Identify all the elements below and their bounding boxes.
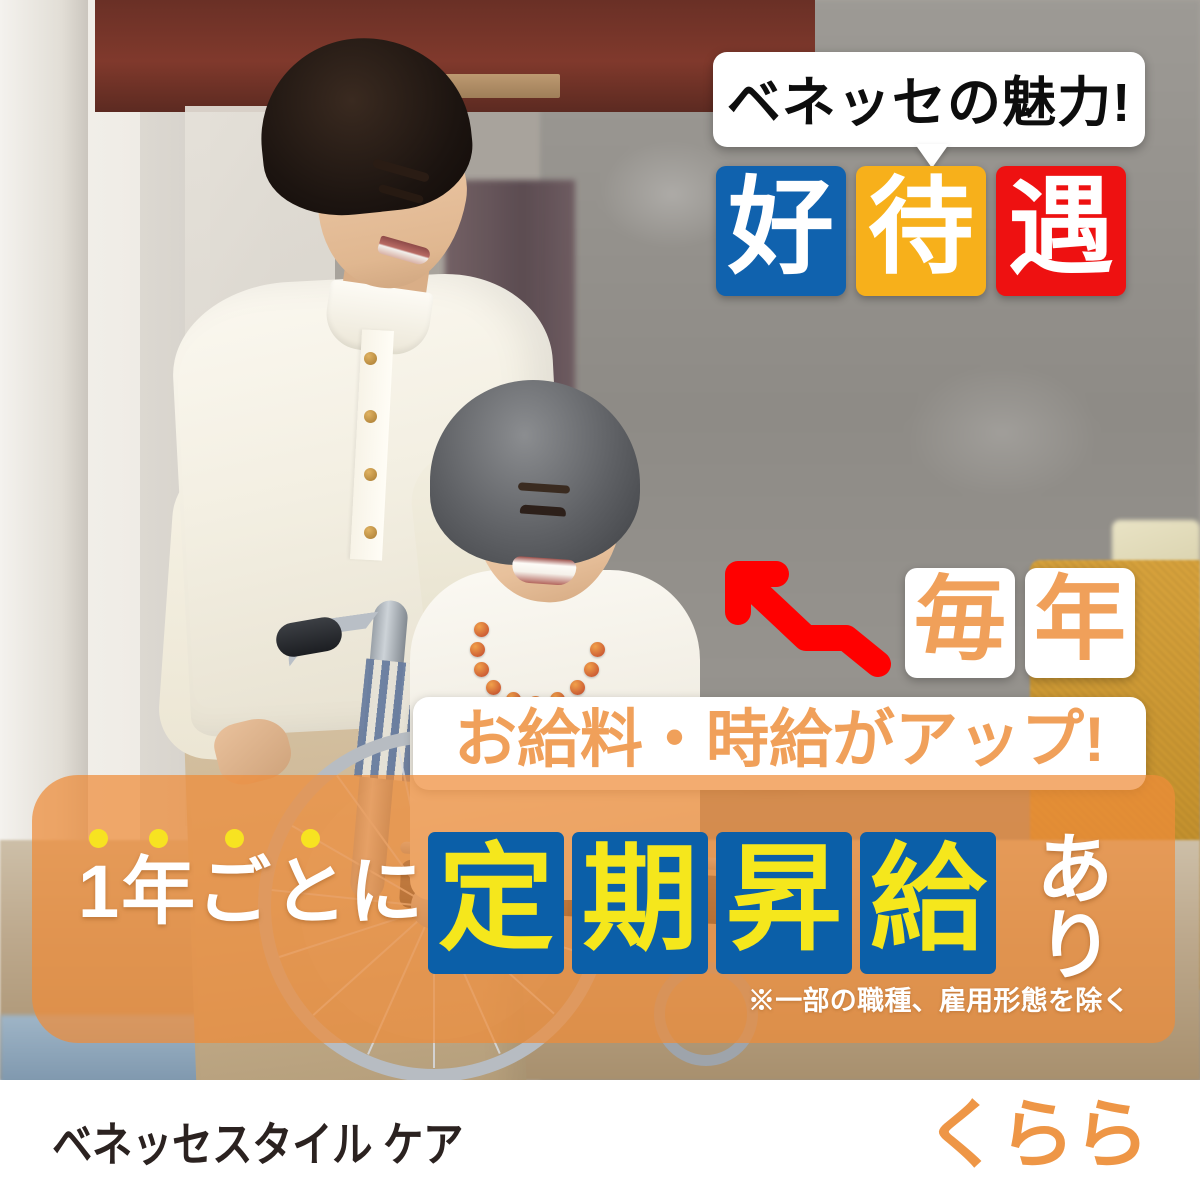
speech-bubble-tail-icon bbox=[915, 144, 949, 168]
poster-root: ベネッセの魅力! 好 待 遇 毎 年 お給料・時給がアップ! 1 bbox=[0, 0, 1200, 1200]
headline-tile-1-char: 好 bbox=[728, 175, 834, 281]
every-year-tile-2-char: 年 bbox=[1034, 574, 1126, 666]
every-year-tile-row: 毎 年 bbox=[905, 568, 1135, 678]
appeal-speech-bubble: ベネッセの魅力! bbox=[713, 52, 1145, 147]
regular-raise-tile-2-char: 期 bbox=[582, 841, 698, 957]
regular-raise-tile-4: 給 bbox=[860, 832, 996, 974]
headline-tile-2-char: 待 bbox=[868, 175, 974, 281]
regular-raise-tile-3: 昇 bbox=[716, 832, 852, 974]
raise-prefix-char-2: 年 bbox=[121, 855, 195, 929]
regular-raise-tile-3-char: 昇 bbox=[726, 841, 842, 957]
raise-prefix-char-3: ご bbox=[197, 855, 271, 929]
footer-bar: ベネッセスタイル ケア くらら bbox=[0, 1080, 1200, 1200]
headline-tile-1: 好 bbox=[716, 166, 846, 296]
raise-prefix-char-1: 1 bbox=[78, 855, 119, 929]
red-rising-step-arrow-icon bbox=[718, 552, 898, 677]
raise-disclaimer: ※一部の職種、雇用形態を除く bbox=[748, 979, 1130, 1018]
speech-bubble-text: ベネッセの魅力! bbox=[727, 58, 1132, 137]
every-year-tile-1: 毎 bbox=[905, 568, 1015, 678]
regular-raise-tile-4-char: 給 bbox=[870, 841, 986, 957]
raise-prefix-char-4: と bbox=[273, 855, 347, 929]
headline-tile-2: 待 bbox=[856, 166, 986, 296]
raise-suffix-ari: あり bbox=[1032, 828, 1104, 980]
every-year-tile-1-char: 毎 bbox=[914, 574, 1006, 666]
headline-kanji-row: 好 待 遇 bbox=[716, 166, 1126, 296]
raise-prefix-char-5: に bbox=[349, 855, 423, 929]
regular-raise-tile-2: 期 bbox=[572, 832, 708, 974]
regular-raise-tile-1-char: 定 bbox=[438, 841, 554, 957]
footer-kurara-logo: くらら bbox=[925, 1098, 1148, 1174]
headline-tile-3: 遇 bbox=[996, 166, 1126, 296]
salary-up-banner-text: お給料・時給がアップ! bbox=[454, 709, 1105, 772]
headline-tile-3-char: 遇 bbox=[1008, 175, 1114, 281]
every-year-tile-2: 年 bbox=[1025, 568, 1135, 678]
regular-raise-tile-1: 定 bbox=[428, 832, 564, 974]
raise-prefix-text: 1 年 ご と に bbox=[78, 855, 423, 929]
regular-raise-tile-row: 定 期 昇 給 bbox=[428, 832, 996, 974]
footer-company-name: ベネッセスタイル ケア bbox=[52, 1106, 463, 1175]
